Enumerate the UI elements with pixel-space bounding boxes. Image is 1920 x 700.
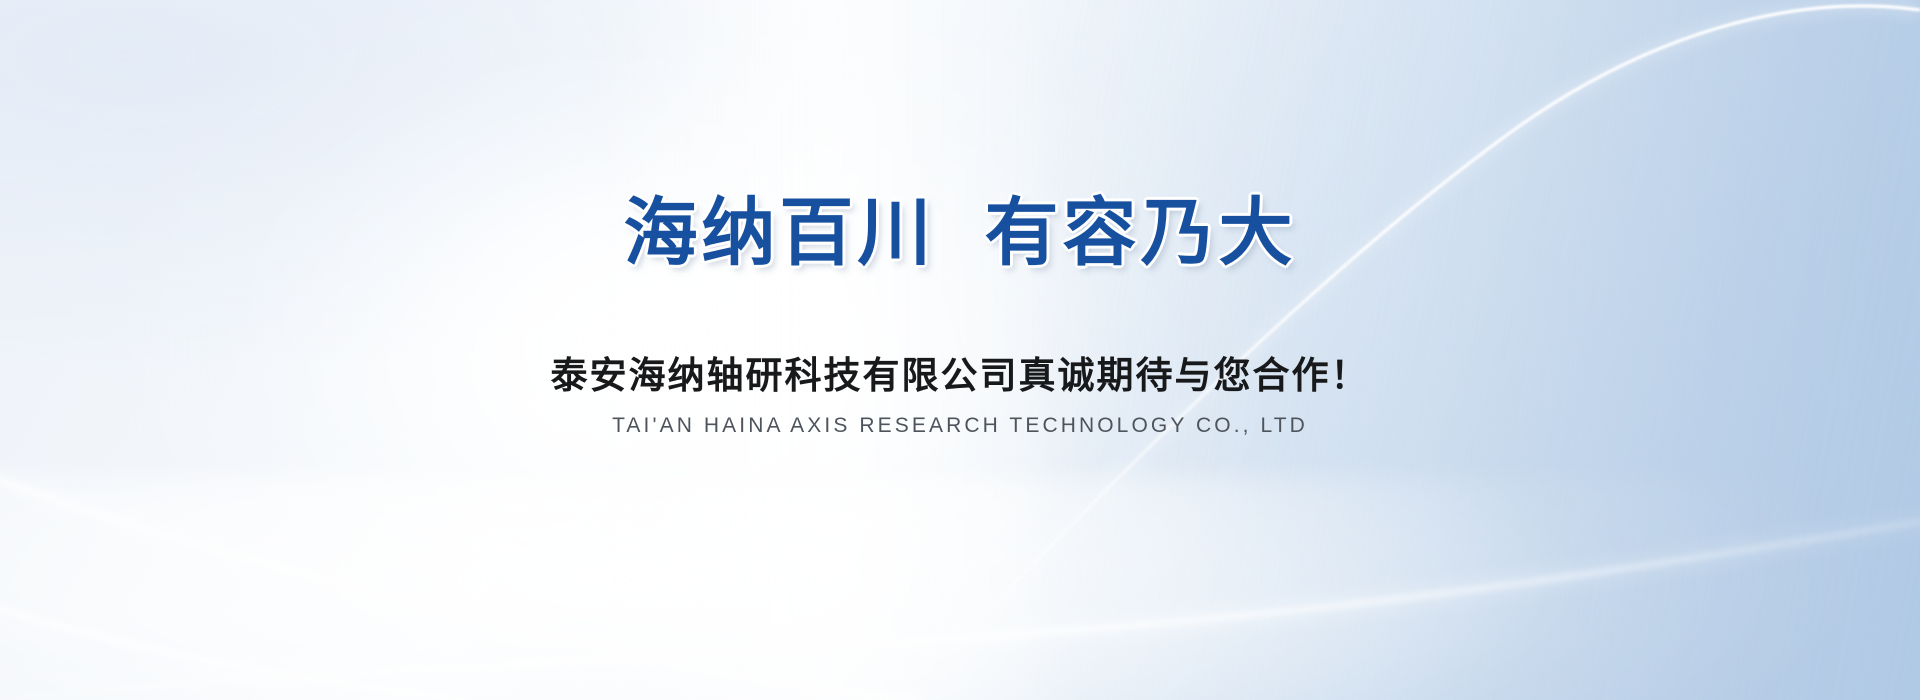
banner-content: 海纳百川 有容乃大 泰安海纳轴研科技有限公司真诚期待与您合作！ TAI'AN H… — [0, 0, 1920, 700]
hero-banner: 海纳百川 有容乃大 泰安海纳轴研科技有限公司真诚期待与您合作！ TAI'AN H… — [0, 0, 1920, 700]
banner-subtitle-cn: 泰安海纳轴研科技有限公司真诚期待与您合作！ — [551, 356, 1370, 397]
banner-headline: 海纳百川 有容乃大 — [623, 196, 1296, 270]
banner-subtitle-en: TAI'AN HAINA AXIS RESEARCH TECHNOLOGY CO… — [612, 413, 1308, 438]
